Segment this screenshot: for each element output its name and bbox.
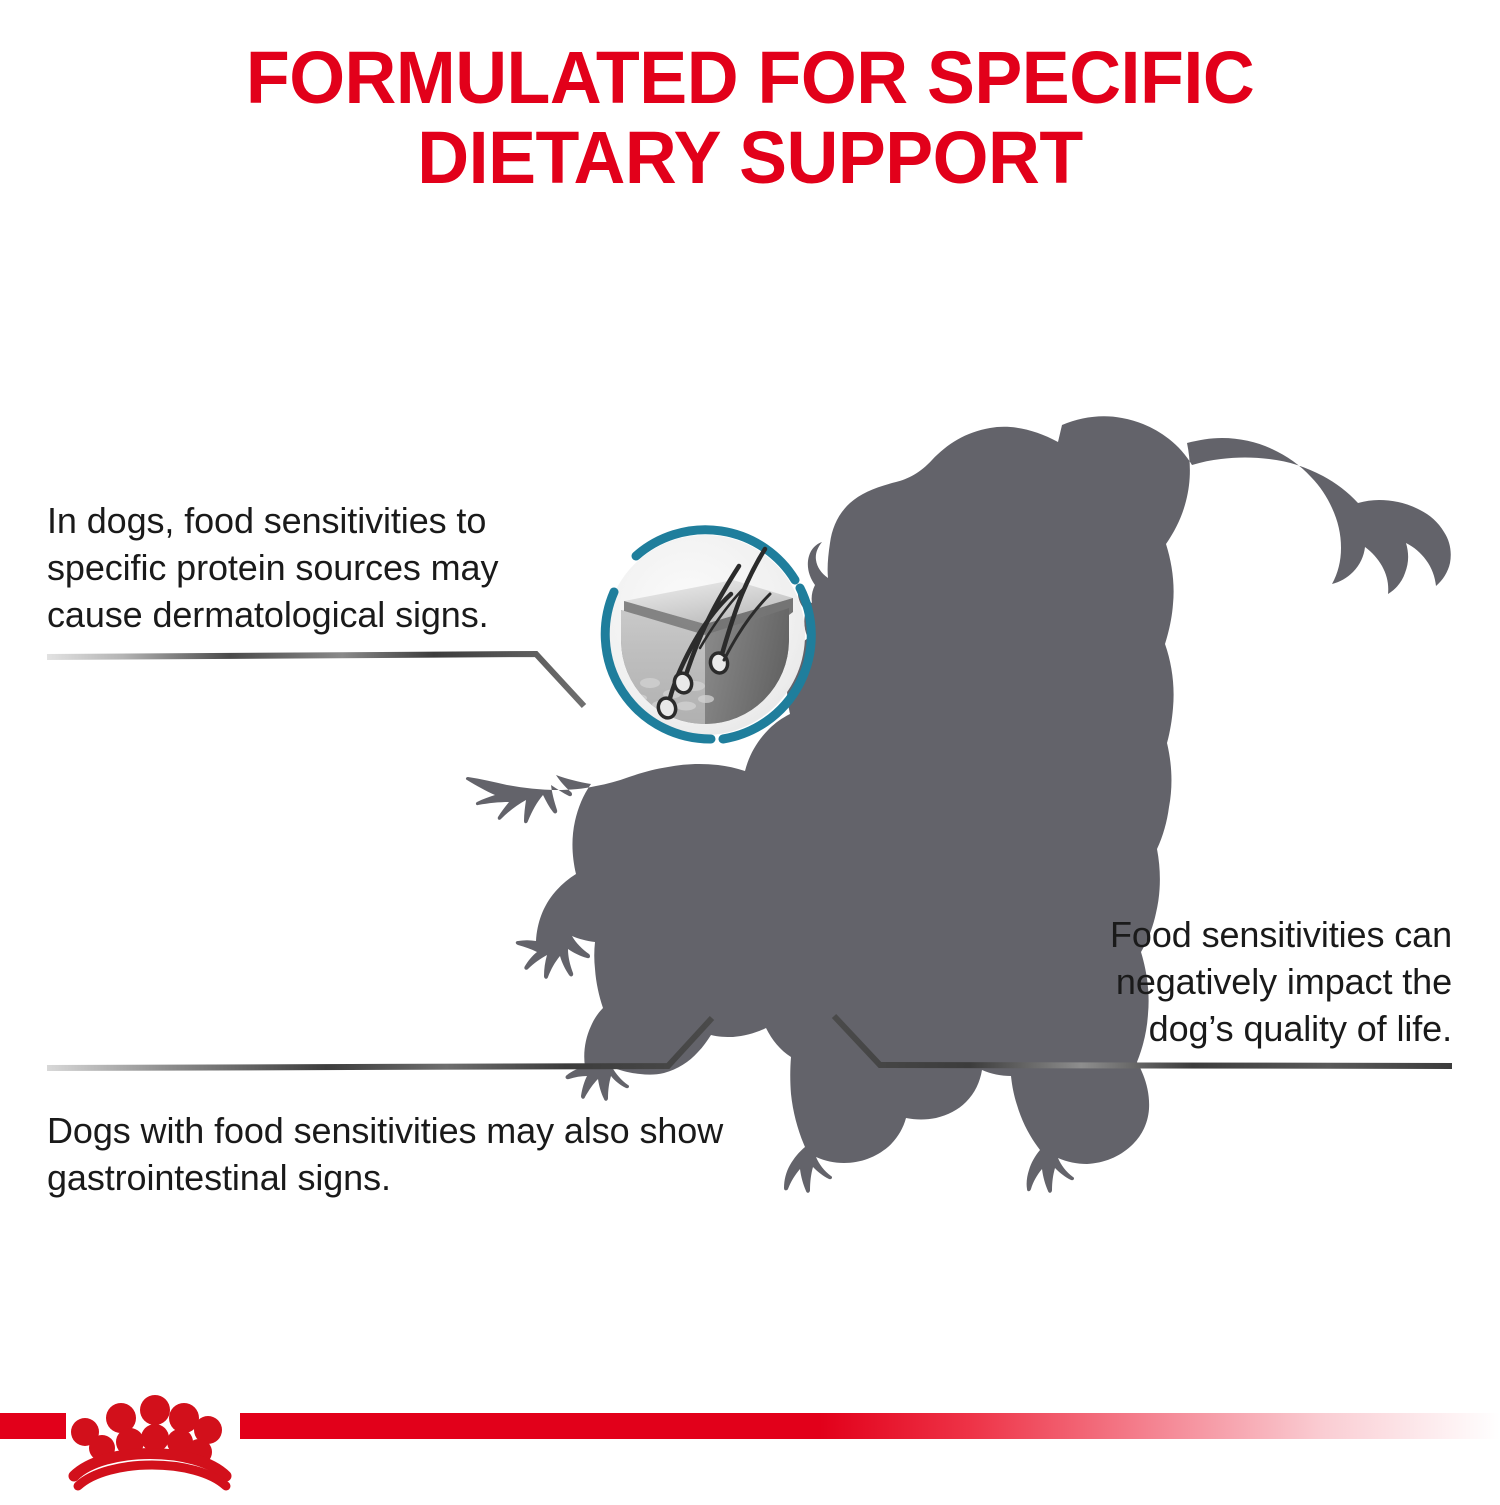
skin-hair-follicle-icon (605, 530, 811, 739)
poster-canvas: FORMULATED FOR SPECIFIC DIETARY SUPPORT (0, 0, 1500, 1500)
brand-bar-left (0, 1413, 66, 1439)
callout-text-quality-of-life: Food sensitivities can negatively impact… (1032, 912, 1452, 1052)
royal-canin-crown-logo (71, 1395, 226, 1486)
brand-footer (0, 1380, 1500, 1500)
callout-text-gastrointestinal: Dogs with food sensitivities may also sh… (47, 1108, 747, 1202)
brand-bar-right (240, 1413, 1500, 1439)
illustration-layer (0, 0, 1500, 1500)
connector-skin (47, 654, 584, 706)
callout-text-skin: In dogs, food sensitivities to specific … (47, 498, 587, 638)
dog-silhouette (466, 416, 1451, 1193)
